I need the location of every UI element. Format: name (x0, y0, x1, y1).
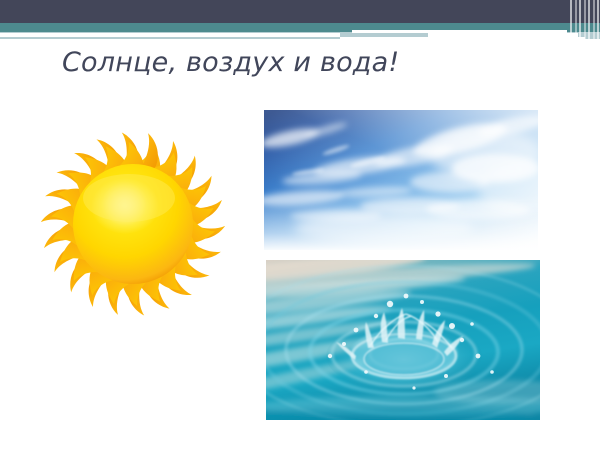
slide-canvas: Солнце, воздух и вода! (0, 0, 600, 450)
page-title: Солнце, воздух и вода! (62, 47, 532, 78)
water-splash-photo (266, 260, 540, 420)
sun-illustration (22, 118, 244, 330)
sky-with-clouds-photo (264, 110, 538, 250)
header-white-band-left (0, 39, 430, 43)
header-dark-band (0, 0, 600, 23)
header-white-band-right-2 (428, 33, 578, 38)
header-white-accent-line-2 (0, 33, 340, 37)
header-vertical-stripes-decoration (568, 0, 600, 42)
